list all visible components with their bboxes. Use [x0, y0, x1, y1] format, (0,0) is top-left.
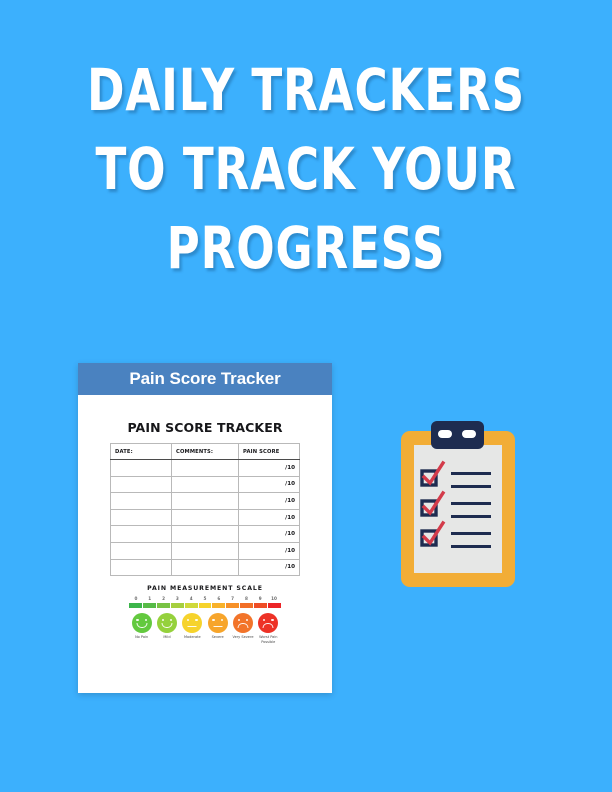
cell-date[interactable] [111, 526, 172, 543]
page-title: DAILY TRACKERS TO TRACK YOUR PROGRESS [0, 62, 612, 276]
face-eye-icon [162, 619, 164, 621]
face-eye-icon [195, 619, 197, 621]
clipboard-illustration [401, 421, 515, 587]
cell-comments[interactable] [172, 476, 239, 493]
face-mouth-icon [213, 626, 222, 627]
cell-comments[interactable] [172, 526, 239, 543]
frowning-face-icon [233, 613, 253, 633]
scale-segment [143, 603, 156, 608]
clipboard-line [451, 472, 491, 475]
scale-number: 2 [157, 596, 171, 601]
cell-score[interactable]: /10 [239, 559, 300, 576]
cell-date[interactable] [111, 559, 172, 576]
cell-date[interactable] [111, 460, 172, 477]
neutral-face-icon [208, 613, 228, 633]
scale-number: 9 [253, 596, 267, 601]
face-eye-icon [263, 619, 265, 621]
column-header-date: DATE: [111, 444, 172, 460]
frowning-face-icon [258, 613, 278, 633]
cell-score[interactable]: /10 [239, 526, 300, 543]
scale-number: 1 [143, 596, 157, 601]
cell-date[interactable] [111, 476, 172, 493]
scale-number: 3 [170, 596, 184, 601]
face-eye-icon [145, 619, 147, 621]
face-eye-icon [246, 619, 248, 621]
pain-face-label: No Pain [130, 635, 154, 639]
clipboard-line [451, 502, 491, 505]
card-header-title: Pain Score Tracker [129, 369, 280, 389]
pain-score-table: DATE: COMMENTS: PAIN SCORE /10 /10 /10 [110, 443, 300, 576]
scale-number: 0 [129, 596, 143, 601]
pain-face-label: Very Severe [231, 635, 255, 639]
cell-date[interactable] [111, 493, 172, 510]
cell-score[interactable]: /10 [239, 476, 300, 493]
cell-score[interactable]: /10 [239, 493, 300, 510]
face-eye-icon [221, 619, 223, 621]
face-eye-icon [238, 619, 240, 621]
pain-scale-numbers: 0 1 2 3 4 5 6 7 8 9 10 [129, 596, 281, 601]
scale-number: 6 [212, 596, 226, 601]
clipboard-line [451, 485, 491, 488]
cell-date[interactable] [111, 509, 172, 526]
pain-face-very-severe: Very Severe [230, 613, 255, 644]
card-body: PAIN SCORE TRACKER DATE: COMMENTS: PAIN … [78, 395, 332, 693]
scale-segment [212, 603, 225, 608]
scale-segment [129, 603, 142, 608]
face-mouth-icon [188, 626, 197, 627]
clipboard-line [451, 515, 491, 518]
scale-segment [226, 603, 239, 608]
cell-score[interactable]: /10 [239, 509, 300, 526]
clip-hole-right [462, 430, 476, 438]
pain-face-label: Severe [206, 635, 230, 639]
pain-face-worst-pain-possible: Worst Pain Possible [256, 613, 281, 644]
face-eye-icon [271, 619, 273, 621]
face-mouth-icon [237, 623, 248, 629]
smiley-face-icon [157, 613, 177, 633]
scale-segment [157, 603, 170, 608]
face-eye-icon [170, 619, 172, 621]
clip-hole-left [438, 430, 452, 438]
pain-scale-faces: No Pain Mild Moderate [129, 613, 281, 644]
pain-face-moderate: Moderate [180, 613, 205, 644]
cell-score[interactable]: /10 [239, 542, 300, 559]
scale-segment [254, 603, 267, 608]
scale-number: 8 [240, 596, 254, 601]
cell-date[interactable] [111, 542, 172, 559]
column-header-comments: COMMENTS: [172, 444, 239, 460]
face-eye-icon [212, 619, 214, 621]
table-row[interactable]: /10 [111, 493, 300, 510]
cell-comments[interactable] [172, 493, 239, 510]
pain-scale-gradient-bar [129, 603, 281, 608]
scale-segment [171, 603, 184, 608]
cell-comments[interactable] [172, 542, 239, 559]
table-row[interactable]: /10 [111, 542, 300, 559]
column-header-pain-score: PAIN SCORE [239, 444, 300, 460]
card-header: Pain Score Tracker [78, 363, 332, 395]
table-row[interactable]: /10 [111, 509, 300, 526]
table-row[interactable]: /10 [111, 559, 300, 576]
sheet-title: PAIN SCORE TRACKER [78, 395, 332, 443]
scale-segment [240, 603, 253, 608]
scale-segment [268, 603, 281, 608]
pain-face-label: Worst Pain Possible [256, 635, 280, 644]
smiley-face-icon [132, 613, 152, 633]
pain-face-label: Moderate [180, 635, 204, 639]
pain-face-mild: Mild [154, 613, 179, 644]
scale-segment [199, 603, 212, 608]
pain-face-severe: Severe [205, 613, 230, 644]
face-eye-icon [136, 619, 138, 621]
clipboard-line [451, 532, 491, 535]
pain-scale-heading: PAIN MEASUREMENT SCALE [121, 585, 289, 592]
cell-comments[interactable] [172, 460, 239, 477]
pain-face-no-pain: No Pain [129, 613, 154, 644]
page-title-line-2: TO TRACK YOUR [67, 141, 544, 198]
cell-comments[interactable] [172, 509, 239, 526]
table-row[interactable]: /10 [111, 526, 300, 543]
table-row[interactable]: /10 [111, 476, 300, 493]
pain-face-label: Mild [155, 635, 179, 639]
clipboard-line [451, 545, 491, 548]
cell-comments[interactable] [172, 559, 239, 576]
scale-number: 10 [267, 596, 281, 601]
scale-segment [185, 603, 198, 608]
scale-number: 5 [198, 596, 212, 601]
face-eye-icon [187, 619, 189, 621]
page-title-line-1: DAILY TRACKERS [67, 62, 544, 119]
face-mouth-icon [161, 623, 172, 629]
face-mouth-icon [136, 623, 147, 629]
table-row[interactable]: /10 [111, 460, 300, 477]
pain-score-tracker-card: Pain Score Tracker PAIN SCORE TRACKER DA… [78, 363, 332, 693]
scale-number: 7 [226, 596, 240, 601]
table-header-row: DATE: COMMENTS: PAIN SCORE [111, 444, 300, 460]
scale-number: 4 [184, 596, 198, 601]
neutral-face-icon [182, 613, 202, 633]
pain-measurement-scale: PAIN MEASUREMENT SCALE 0 1 2 3 4 5 6 7 8… [121, 585, 289, 644]
face-mouth-icon [263, 623, 274, 629]
cell-score[interactable]: /10 [239, 460, 300, 477]
page-title-line-3: PROGRESS [67, 220, 544, 277]
